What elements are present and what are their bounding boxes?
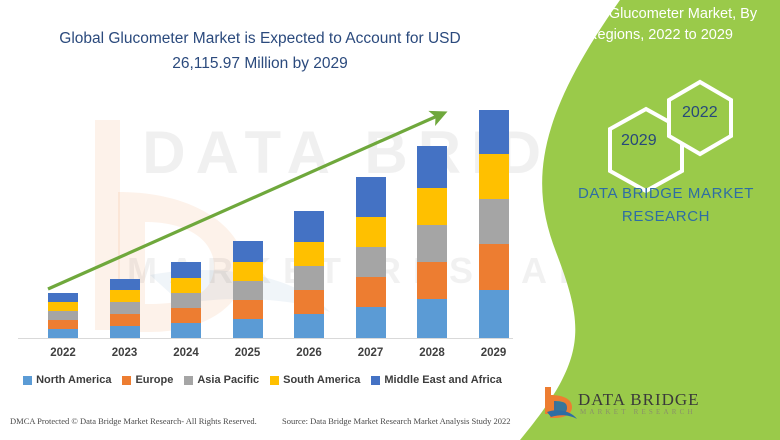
growth-arrow-icon bbox=[0, 0, 530, 360]
data-bridge-logo-icon bbox=[540, 384, 580, 424]
legend-label: Asia Pacific bbox=[197, 374, 259, 386]
footer-source: Source: Data Bridge Market Research Mark… bbox=[282, 416, 511, 426]
legend-swatch-icon bbox=[122, 376, 131, 385]
stacked-bar-chart: 20222023202420252026202720282029 bbox=[0, 0, 530, 360]
panel-title: Global Glucometer Market, By Regions, 20… bbox=[546, 4, 774, 46]
infographic-canvas: DATA BRIDGE MARKET RESEARCH Global Gluco… bbox=[0, 0, 780, 440]
panel-brand-block: DATA BRIDGE MARKET RESEARCH bbox=[556, 182, 776, 228]
legend-swatch-icon bbox=[184, 376, 193, 385]
legend-swatch-icon bbox=[270, 376, 279, 385]
panel-brand-line1: DATA BRIDGE MARKET bbox=[578, 185, 754, 202]
legend-item[interactable]: Middle East and Africa bbox=[371, 374, 502, 386]
legend-label: Middle East and Africa bbox=[384, 374, 502, 386]
legend-item[interactable]: South America bbox=[270, 374, 360, 386]
chart-legend: North AmericaEuropeAsia PacificSouth Ame… bbox=[0, 374, 525, 386]
legend-label: Europe bbox=[135, 374, 173, 386]
logo-tagline: MARKET RESEARCH bbox=[580, 408, 696, 416]
panel-brand-line2: RESEARCH bbox=[622, 208, 710, 225]
legend-item[interactable]: Europe bbox=[122, 374, 173, 386]
hexagon-2022-label: 2022 bbox=[682, 104, 718, 122]
legend-swatch-icon bbox=[23, 376, 32, 385]
legend-item[interactable]: North America bbox=[23, 374, 111, 386]
legend-swatch-icon bbox=[371, 376, 380, 385]
legend-label: North America bbox=[36, 374, 111, 386]
legend-item[interactable]: Asia Pacific bbox=[184, 374, 259, 386]
hexagon-2029-label: 2029 bbox=[621, 132, 657, 150]
legend-label: South America bbox=[283, 374, 360, 386]
footer-copyright: DMCA Protected © Data Bridge Market Rese… bbox=[10, 416, 257, 426]
logo-name: DATA BRIDGE bbox=[578, 390, 700, 410]
